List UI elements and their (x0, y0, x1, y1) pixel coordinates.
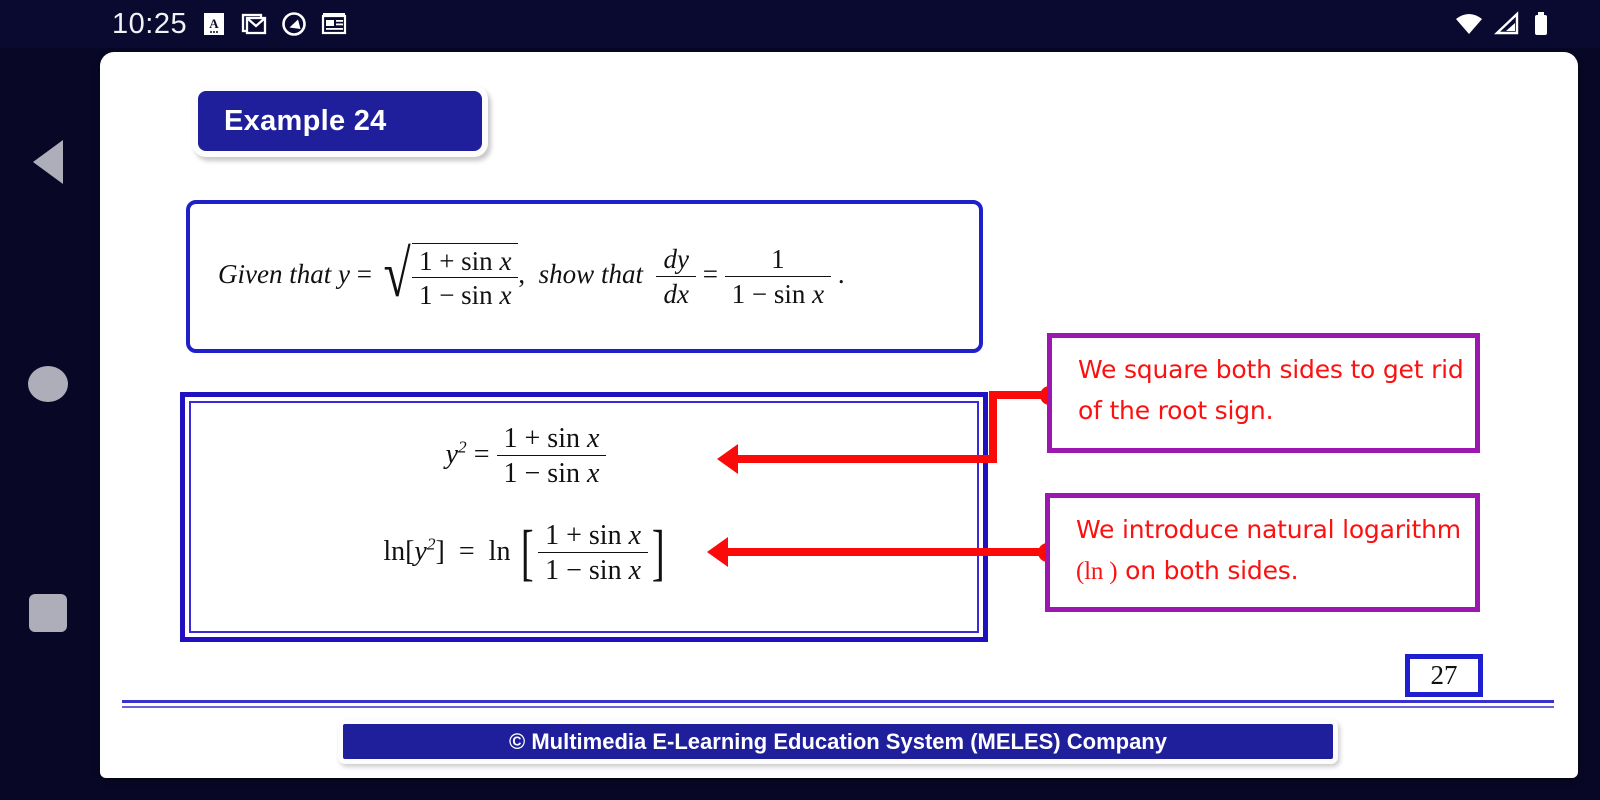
problem-equals-2: = (703, 259, 718, 289)
example-badge-label: Example 24 (224, 105, 387, 138)
derivative-numerator: dy (656, 244, 695, 276)
annotation-2-ln-symbol: (ln ) (1076, 558, 1117, 585)
problem-equals: = (357, 259, 372, 289)
connector-2-arrowhead (707, 537, 728, 567)
problem-period: . (838, 259, 845, 289)
sol2-bracket-close: ] (652, 529, 665, 577)
example-badge: Example 24 (192, 85, 488, 157)
footer-rule-bottom (122, 706, 1554, 708)
sol2-lhs-open: ln[ (383, 536, 414, 567)
sol2-denominator: 1 − sin x (538, 553, 648, 586)
sol1-lhs: y (446, 439, 458, 470)
radicand-fraction: 1 + sin x 1 − sin x (412, 243, 518, 310)
battery-icon (1532, 11, 1558, 37)
sol2-numerator: 1 + sin x (538, 520, 648, 553)
recents-button-icon[interactable] (29, 594, 67, 632)
problem-comma: , (518, 259, 525, 289)
news-icon (321, 11, 347, 37)
status-bar-right (1454, 11, 1600, 37)
sol1-fraction: 1 + sin x 1 − sin x (497, 423, 607, 490)
annotation-2-before: We introduce natural logarithm (1076, 515, 1461, 544)
problem-middle: show that (539, 259, 643, 289)
home-button-icon[interactable] (28, 366, 68, 402)
status-bar-clock: 10:25 (112, 8, 187, 41)
annotation-2-after: on both sides. (1117, 556, 1298, 585)
wifi-icon (1454, 11, 1480, 37)
connector-1-segment-bottom (738, 455, 994, 463)
derivative-fraction: dy dx (656, 244, 695, 308)
status-bar-left: 10:25 A (0, 8, 347, 41)
result-fraction: 1 1 − sin x (725, 244, 831, 308)
problem-prefix: Given that (218, 259, 331, 289)
connector-1-segment-vertical (989, 391, 997, 463)
footer-copyright-bar: © Multimedia E-Learning Education System… (338, 719, 1338, 764)
android-navigation-bar (0, 48, 96, 800)
problem-equation: Given that y = √ 1 + sin x 1 − sin x (190, 243, 845, 310)
result-numerator: 1 (725, 244, 831, 276)
text-app-icon: A (201, 11, 227, 37)
result-denominator: 1 − sin x (725, 277, 831, 309)
radicand-denominator: 1 − sin x (412, 278, 518, 310)
problem-lhs-var: y (338, 259, 350, 289)
footer-rule-top (122, 700, 1554, 703)
annotation-2-text: We introduce natural logarithm (ln ) on … (1076, 510, 1475, 592)
sol2-fraction: 1 + sin x 1 − sin x (538, 520, 648, 587)
square-root-expression: √ 1 + sin x 1 − sin x (379, 243, 519, 310)
sol2-exponent: 2 (427, 534, 436, 553)
back-button-icon[interactable] (33, 140, 63, 184)
annotation-1-text: We square both sides to get rid of the r… (1078, 350, 1475, 431)
solution-inner-frame: y2 = 1 + sin x 1 − sin x ln[y2] (189, 401, 979, 633)
sol2-equals: = (459, 536, 475, 567)
sol1-equals: = (474, 439, 490, 470)
page-number-badge: 27 (1405, 654, 1483, 697)
sol1-numerator: 1 + sin x (497, 423, 607, 456)
sol2-lhs-var: y (414, 536, 426, 567)
svg-text:A: A (209, 16, 219, 31)
annotation-callout-square: We square both sides to get rid of the r… (1047, 333, 1480, 453)
circle-slash-icon (281, 11, 307, 37)
gmail-icon (241, 11, 267, 37)
footer-copyright-text: © Multimedia E-Learning Education System… (509, 729, 1167, 755)
connector-1-segment-top (989, 391, 1045, 399)
sol2-lhs-close: ] (436, 536, 445, 567)
presentation-slide[interactable]: Example 24 Given that y = √ 1 + sin x 1 … (100, 52, 1578, 778)
screen: 10:25 A (0, 0, 1600, 800)
android-status-bar: 10:25 A (0, 0, 1600, 48)
sol1-denominator: 1 − sin x (497, 456, 607, 489)
problem-statement-box: Given that y = √ 1 + sin x 1 − sin x (186, 200, 983, 353)
connector-1-arrowhead (717, 444, 738, 474)
solution-box: y2 = 1 + sin x 1 − sin x ln[y2] (180, 392, 988, 642)
annotation-callout-logarithm: We introduce natural logarithm (ln ) on … (1045, 493, 1480, 612)
derivative-denominator: dx (656, 277, 695, 309)
cellular-signal-icon (1493, 11, 1519, 37)
sol2-bracket-open: [ (521, 529, 534, 577)
radicand-numerator: 1 + sin x (412, 246, 518, 278)
sol1-exponent: 2 (458, 437, 467, 456)
sol2-ln: ln (489, 536, 511, 567)
connector-2-segment (728, 548, 1046, 556)
radical-sign: √ (383, 248, 410, 315)
